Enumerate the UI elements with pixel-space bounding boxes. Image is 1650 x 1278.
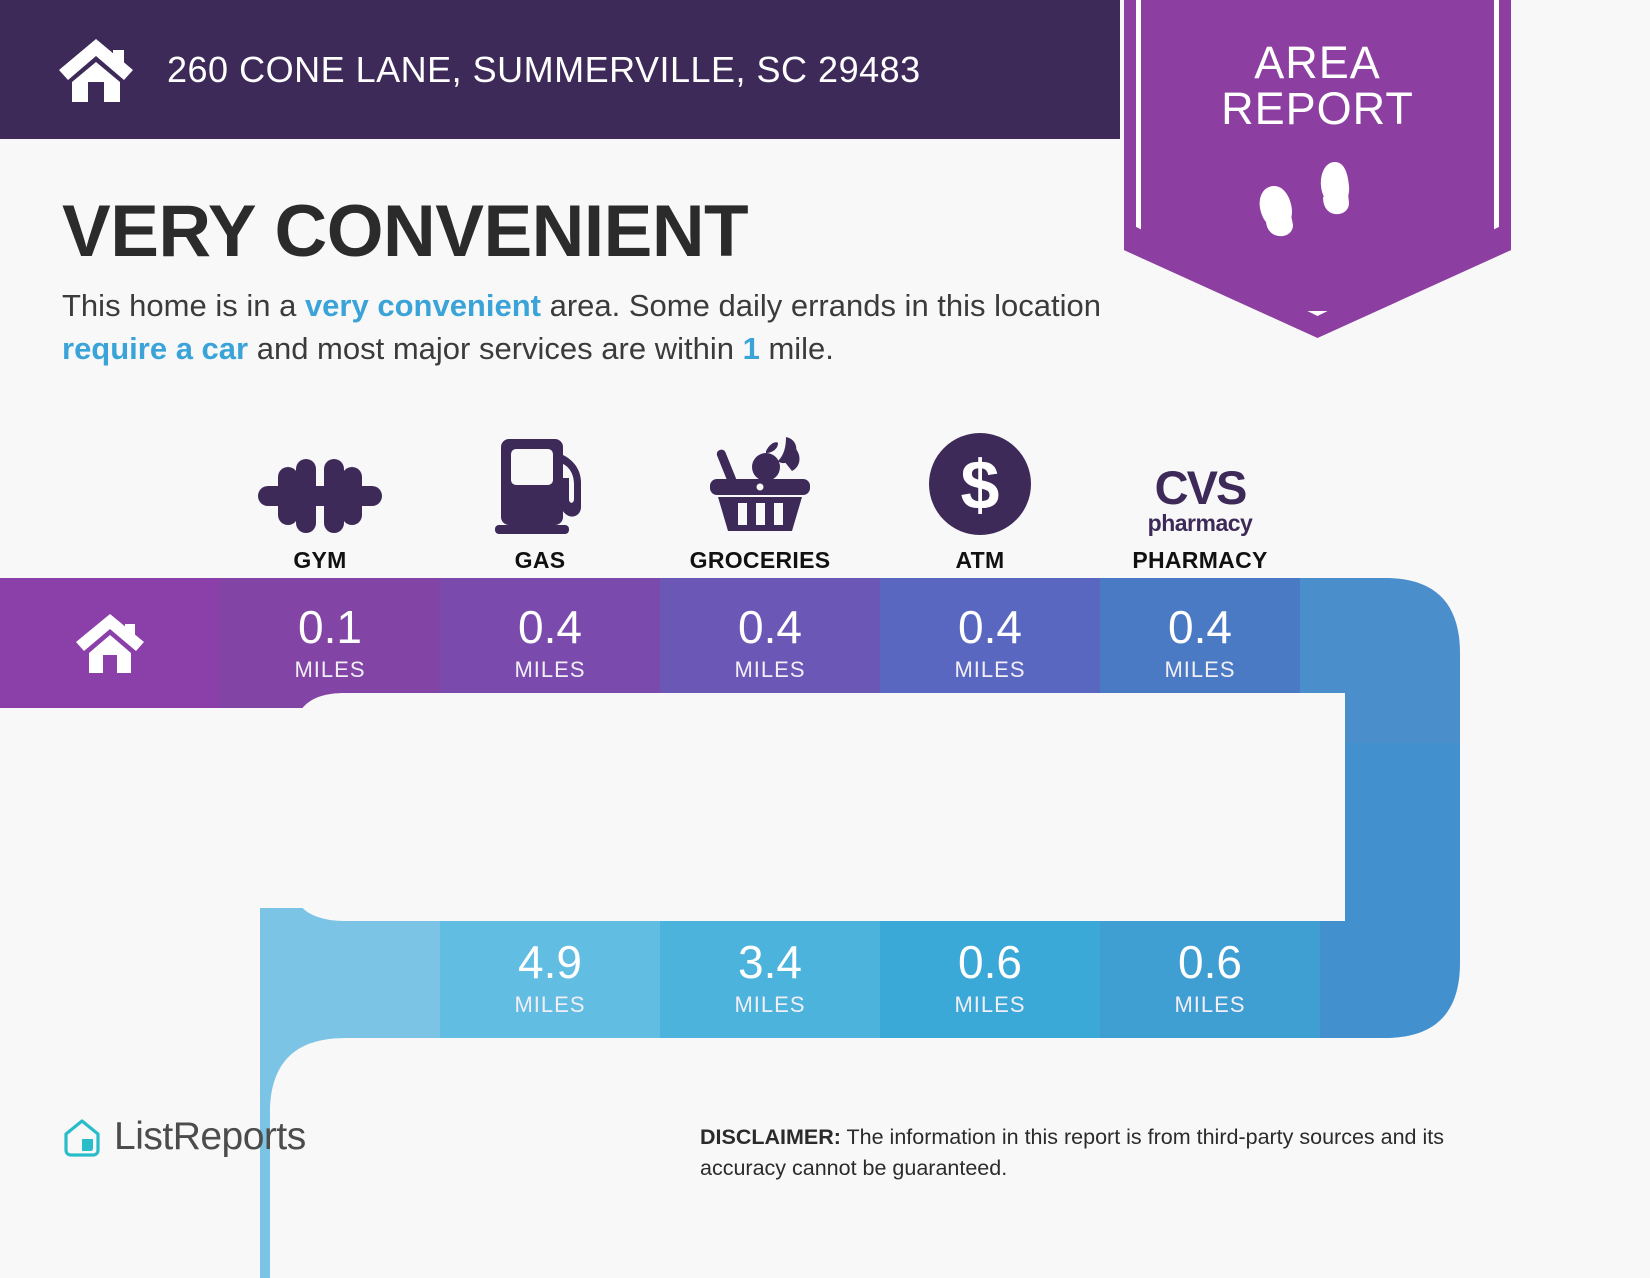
cvs-wordmark: CVS — [1148, 464, 1253, 511]
icon-label: GYM — [210, 547, 430, 574]
ribbon-cell-movie-theater: 4.9 MILES — [440, 913, 660, 1043]
distance-unit: MILES — [514, 992, 585, 1018]
ribbon-cell-gym: 0.1 MILES — [220, 578, 440, 708]
ribbon-cell-groceries: 0.4 MILES — [660, 578, 880, 708]
distance-unit: MILES — [954, 992, 1025, 1018]
distance-unit: MILES — [294, 657, 365, 683]
desc-highlight1: very convenient — [305, 288, 541, 323]
ribbon-origin-cell — [0, 578, 220, 708]
grocery-basket-icon — [650, 425, 870, 535]
house-icon — [72, 611, 148, 675]
distance-value: 0.4 — [1168, 604, 1232, 650]
listreports-name: ListReports — [114, 1115, 306, 1159]
page-description: This home is in a very convenient area. … — [62, 285, 1122, 371]
icon-cell-atm: $ ATM — [870, 425, 1090, 574]
ribbon-cell-medical: 0.6 MILES — [1100, 913, 1320, 1043]
desc-part4: mile. — [760, 331, 834, 366]
distance-value: 0.4 — [518, 604, 582, 650]
page-title: VERY CONVENIENT — [62, 190, 748, 273]
disclaimer-label: DISCLAIMER: — [700, 1125, 841, 1149]
distance-unit: MILES — [1164, 657, 1235, 683]
ribbon-cell-coffee: 0.6 MILES — [880, 913, 1100, 1043]
icon-label: GROCERIES — [650, 547, 870, 574]
icon-cell-pharmacy: CVS pharmacy PHARMACY — [1090, 425, 1310, 574]
distance-value: 0.6 — [958, 939, 1022, 985]
listreports-logo: ListReports — [62, 1115, 306, 1159]
header-bar: 260 CONE LANE, SUMMERVILLE, SC 29483 — [0, 0, 1120, 139]
desc-highlight2: require a car — [62, 331, 248, 366]
dollar-circle-icon: $ — [870, 425, 1090, 535]
ribbon-cell-gas: 0.4 MILES — [440, 578, 660, 708]
distance-value: 4.9 — [518, 939, 582, 985]
icon-cell-groceries: GROCERIES — [650, 425, 870, 574]
icon-cell-gym: GYM — [210, 425, 430, 574]
distance-value: 0.1 — [298, 604, 362, 650]
cvs-pharmacy-logo: CVS pharmacy — [1090, 425, 1310, 535]
svg-text:$: $ — [961, 446, 1000, 524]
distance-value: 3.4 — [738, 939, 802, 985]
listreports-house-icon — [62, 1117, 102, 1157]
distance-unit: MILES — [514, 657, 585, 683]
distance-value: 0.4 — [738, 604, 802, 650]
distance-value: 0.4 — [958, 604, 1022, 650]
distance-unit: MILES — [734, 992, 805, 1018]
icon-cell-gas: GAS — [430, 425, 650, 574]
dumbbell-icon — [210, 425, 430, 535]
desc-part3: and most major services are within — [248, 331, 742, 366]
desc-highlight3: 1 — [743, 331, 760, 366]
disclaimer: DISCLAIMER: The information in this repo… — [700, 1122, 1510, 1184]
badge-title: AREA REPORT — [1124, 40, 1511, 133]
header-address: 260 CONE LANE, SUMMERVILLE, SC 29483 — [167, 49, 921, 91]
distance-unit: MILES — [1174, 992, 1245, 1018]
ribbon-cell-pharmacy: 0.4 MILES — [1100, 578, 1300, 708]
cvs-pharmacy-text: pharmacy — [1148, 512, 1253, 535]
icon-label: ATM — [870, 547, 1090, 574]
gas-pump-icon — [430, 425, 650, 535]
distance-unit: MILES — [954, 657, 1025, 683]
badge-line1: AREA — [1124, 40, 1511, 86]
distance-value: 0.6 — [1178, 939, 1242, 985]
ribbon-cell-cleaners: 3.4 MILES — [660, 913, 880, 1043]
distance-unit: MILES — [734, 657, 805, 683]
icon-label: GAS — [430, 547, 650, 574]
icon-label: PHARMACY — [1090, 547, 1310, 574]
badge-line2: REPORT — [1124, 86, 1511, 132]
footprints-icon — [1256, 158, 1378, 243]
desc-part2: area. Some daily errands in this locatio… — [541, 288, 1101, 323]
desc-part1: This home is in a — [62, 288, 305, 323]
ribbon-cell-atm: 0.4 MILES — [880, 578, 1100, 708]
house-icon — [55, 36, 137, 104]
